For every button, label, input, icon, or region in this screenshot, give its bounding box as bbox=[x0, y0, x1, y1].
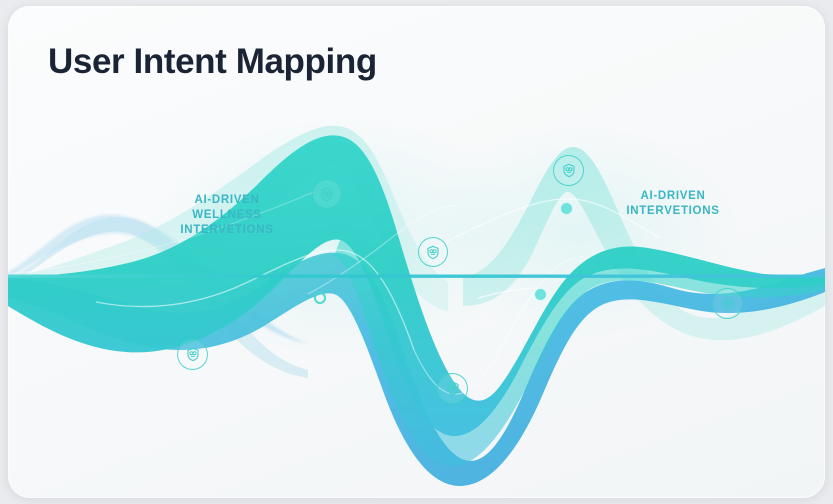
screenshot-root: User Intent Mapping AI-DRIVEN WELLNESS I… bbox=[0, 0, 833, 504]
badge-icon bbox=[186, 347, 200, 362]
page-title: User Intent Mapping bbox=[48, 42, 377, 82]
marker-trough[interactable] bbox=[437, 373, 468, 404]
marker-peak-left[interactable] bbox=[312, 179, 342, 209]
badge-icon bbox=[721, 296, 735, 311]
marker-lower-left[interactable] bbox=[177, 339, 208, 370]
badge-icon bbox=[562, 163, 576, 178]
baseline-axis bbox=[8, 275, 825, 278]
badge-icon bbox=[446, 381, 460, 396]
marker-center[interactable] bbox=[418, 237, 448, 267]
badge-icon bbox=[426, 245, 440, 260]
visualization-card: User Intent Mapping AI-DRIVEN WELLNESS I… bbox=[8, 6, 825, 498]
dot-solid-mid[interactable] bbox=[534, 288, 547, 301]
dot-hollow-left[interactable] bbox=[314, 292, 326, 304]
marker-right-edge[interactable] bbox=[712, 288, 743, 319]
marker-peak-right[interactable] bbox=[553, 155, 584, 186]
badge-icon bbox=[320, 187, 334, 202]
dot-solid-upper[interactable] bbox=[560, 202, 573, 215]
